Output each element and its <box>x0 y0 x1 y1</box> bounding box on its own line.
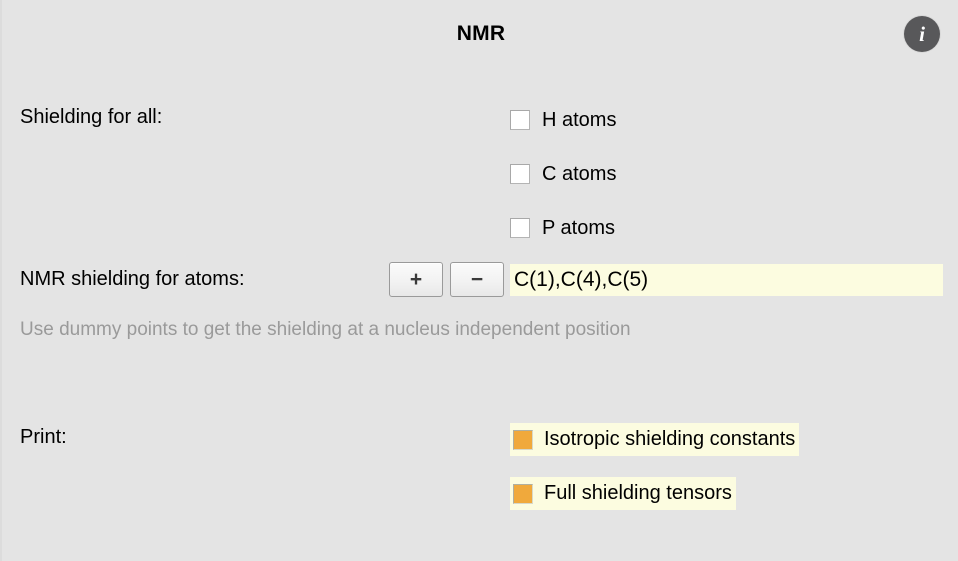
print-label: Print: <box>20 426 67 449</box>
dummy-points-hint: Use dummy points to get the shielding at… <box>20 319 631 341</box>
checkbox-row-isotropic-shielding-constants[interactable]: Isotropic shielding constants <box>510 423 799 456</box>
checkbox-h-atoms[interactable] <box>510 110 530 130</box>
checkbox-label-h-atoms: H atoms <box>542 109 616 132</box>
checkbox-label-p-atoms: P atoms <box>542 217 615 240</box>
shielding-for-all-label: Shielding for all: <box>20 106 162 129</box>
checkbox-row-full-shielding-tensors[interactable]: Full shielding tensors <box>510 477 736 510</box>
checkbox-full-shielding-tensors[interactable] <box>513 484 533 504</box>
remove-atom-button[interactable]: − <box>450 262 504 297</box>
atoms-input[interactable] <box>510 264 943 296</box>
add-atom-button[interactable]: + <box>389 262 443 297</box>
checkbox-row-h-atoms[interactable]: H atoms <box>510 106 616 134</box>
checkbox-c-atoms[interactable] <box>510 164 530 184</box>
page-title: NMR <box>2 22 958 46</box>
checkbox-label-full-shielding-tensors: Full shielding tensors <box>544 482 732 505</box>
info-icon[interactable]: i <box>904 16 940 52</box>
checkbox-row-p-atoms[interactable]: P atoms <box>510 214 615 242</box>
checkbox-isotropic-shielding-constants[interactable] <box>513 430 533 450</box>
nmr-shielding-for-atoms-label: NMR shielding for atoms: <box>20 268 245 291</box>
checkbox-p-atoms[interactable] <box>510 218 530 238</box>
checkbox-label-c-atoms: C atoms <box>542 163 616 186</box>
checkbox-row-c-atoms[interactable]: C atoms <box>510 160 616 188</box>
nmr-settings-panel: NMR i Shielding for all: H atoms C atoms… <box>0 0 958 561</box>
checkbox-label-isotropic-shielding-constants: Isotropic shielding constants <box>544 428 795 451</box>
